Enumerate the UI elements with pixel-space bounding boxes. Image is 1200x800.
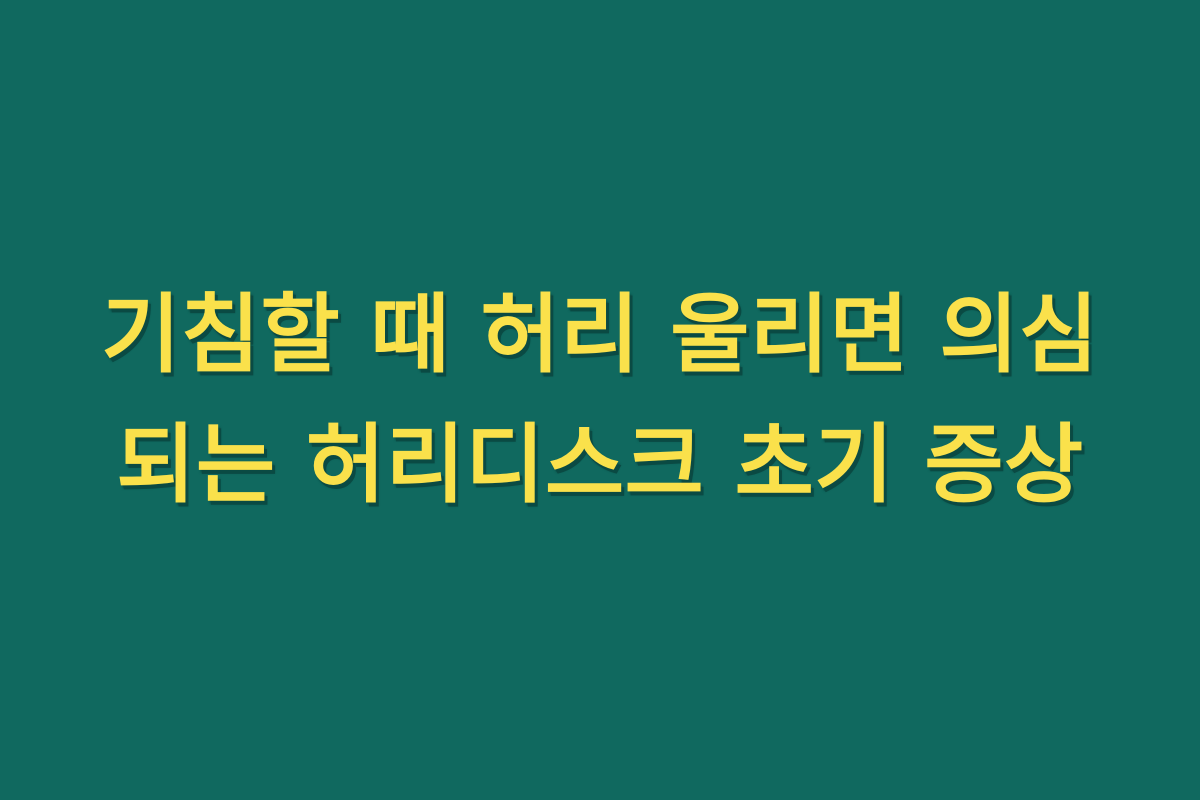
thumbnail-canvas: 기침할 때 허리 울리면 의심되는 허리디스크 초기 증상	[0, 0, 1200, 800]
headline-text: 기침할 때 허리 울리면 의심되는 허리디스크 초기 증상	[95, 270, 1105, 530]
